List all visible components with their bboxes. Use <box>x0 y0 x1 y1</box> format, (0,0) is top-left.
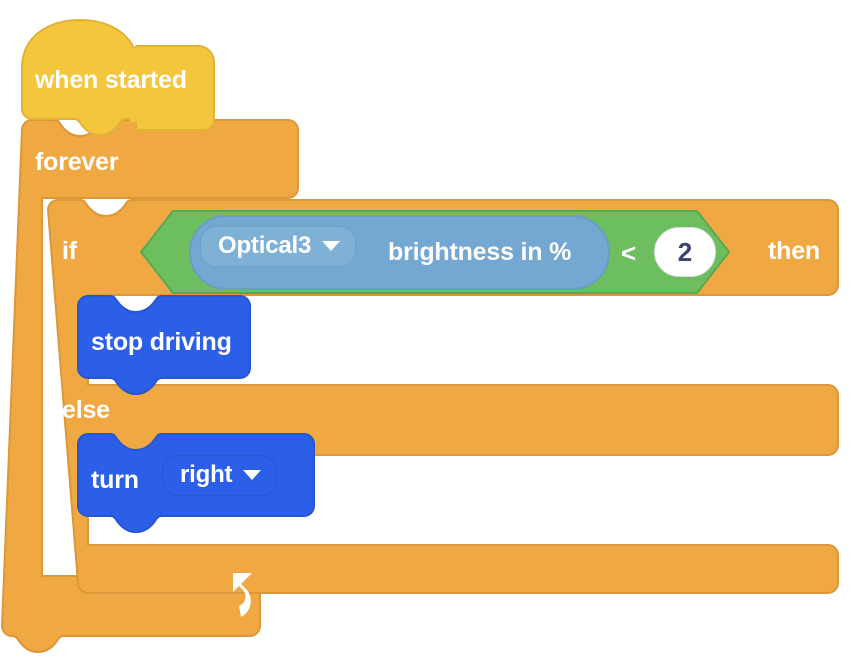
forever-label: forever <box>35 150 118 175</box>
when-started-label: when started <box>35 68 187 93</box>
optical-sensor-dropdown-label: Optical3 <box>218 234 311 258</box>
chevron-down-icon <box>322 241 340 251</box>
optical-sensor-dropdown[interactable]: Optical3 <box>200 226 356 267</box>
stop-driving-label: stop driving <box>91 330 232 355</box>
block-coding-workspace: when started forever if Optical3 brightn… <box>0 0 862 660</box>
if-label: if <box>62 239 77 264</box>
less-than-symbol: < <box>621 238 636 269</box>
chevron-down-icon <box>243 470 261 480</box>
turn-label: turn <box>91 468 139 493</box>
turn-direction-dropdown[interactable]: right <box>162 455 277 496</box>
turn-direction-dropdown-label: right <box>180 463 232 487</box>
else-label: else <box>62 398 110 423</box>
brightness-reporter-label: brightness in % <box>388 240 571 265</box>
threshold-number-input[interactable]: 2 <box>654 227 716 277</box>
then-label: then <box>768 239 820 264</box>
